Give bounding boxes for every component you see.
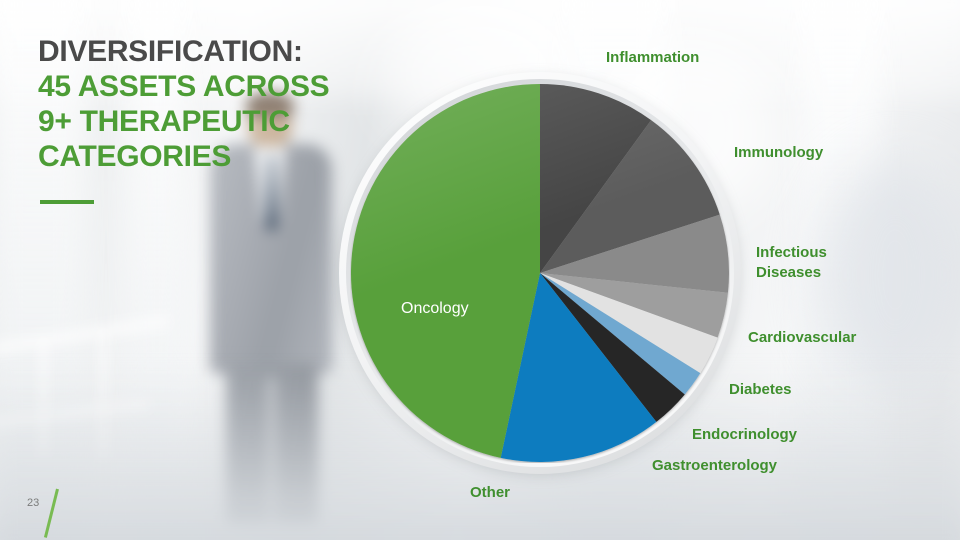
slice-label-gastroenterology: Gastroenterology: [652, 456, 777, 475]
slice-label-inflammation: Inflammation: [606, 48, 699, 67]
slide-title: DIVERSIFICATION: 45 ASSETS ACROSS 9+ THE…: [38, 34, 368, 174]
title-line-4: CATEGORIES: [38, 139, 368, 174]
slice-label-endocrinology: Endocrinology: [692, 425, 797, 444]
title-line-1: DIVERSIFICATION:: [38, 34, 368, 69]
title-line-2: 45 ASSETS ACROSS: [38, 69, 368, 104]
page-number: 23: [27, 497, 39, 509]
title-underline-rule: [40, 200, 94, 204]
pie-slice-oncology[interactable]: [351, 84, 540, 458]
slice-label-other: Other: [470, 483, 510, 502]
slice-label-infectious-diseases-line1: Infectious: [756, 243, 827, 262]
slice-label-oncology: Oncology: [401, 300, 469, 318]
background-light-2: [820, 160, 960, 390]
slice-label-infectious-diseases-line2: Diseases: [756, 263, 821, 282]
slice-label-immunology: Immunology: [734, 143, 823, 162]
pie-slices-svg: [350, 83, 730, 463]
slide-canvas: DIVERSIFICATION: 45 ASSETS ACROSS 9+ THE…: [0, 0, 960, 540]
pie-chart: Oncology: [339, 72, 741, 474]
title-line-3: 9+ THERAPEUTIC: [38, 104, 368, 139]
slice-label-diabetes: Diabetes: [729, 380, 792, 399]
slice-label-cardiovascular: Cardiovascular: [748, 328, 856, 347]
